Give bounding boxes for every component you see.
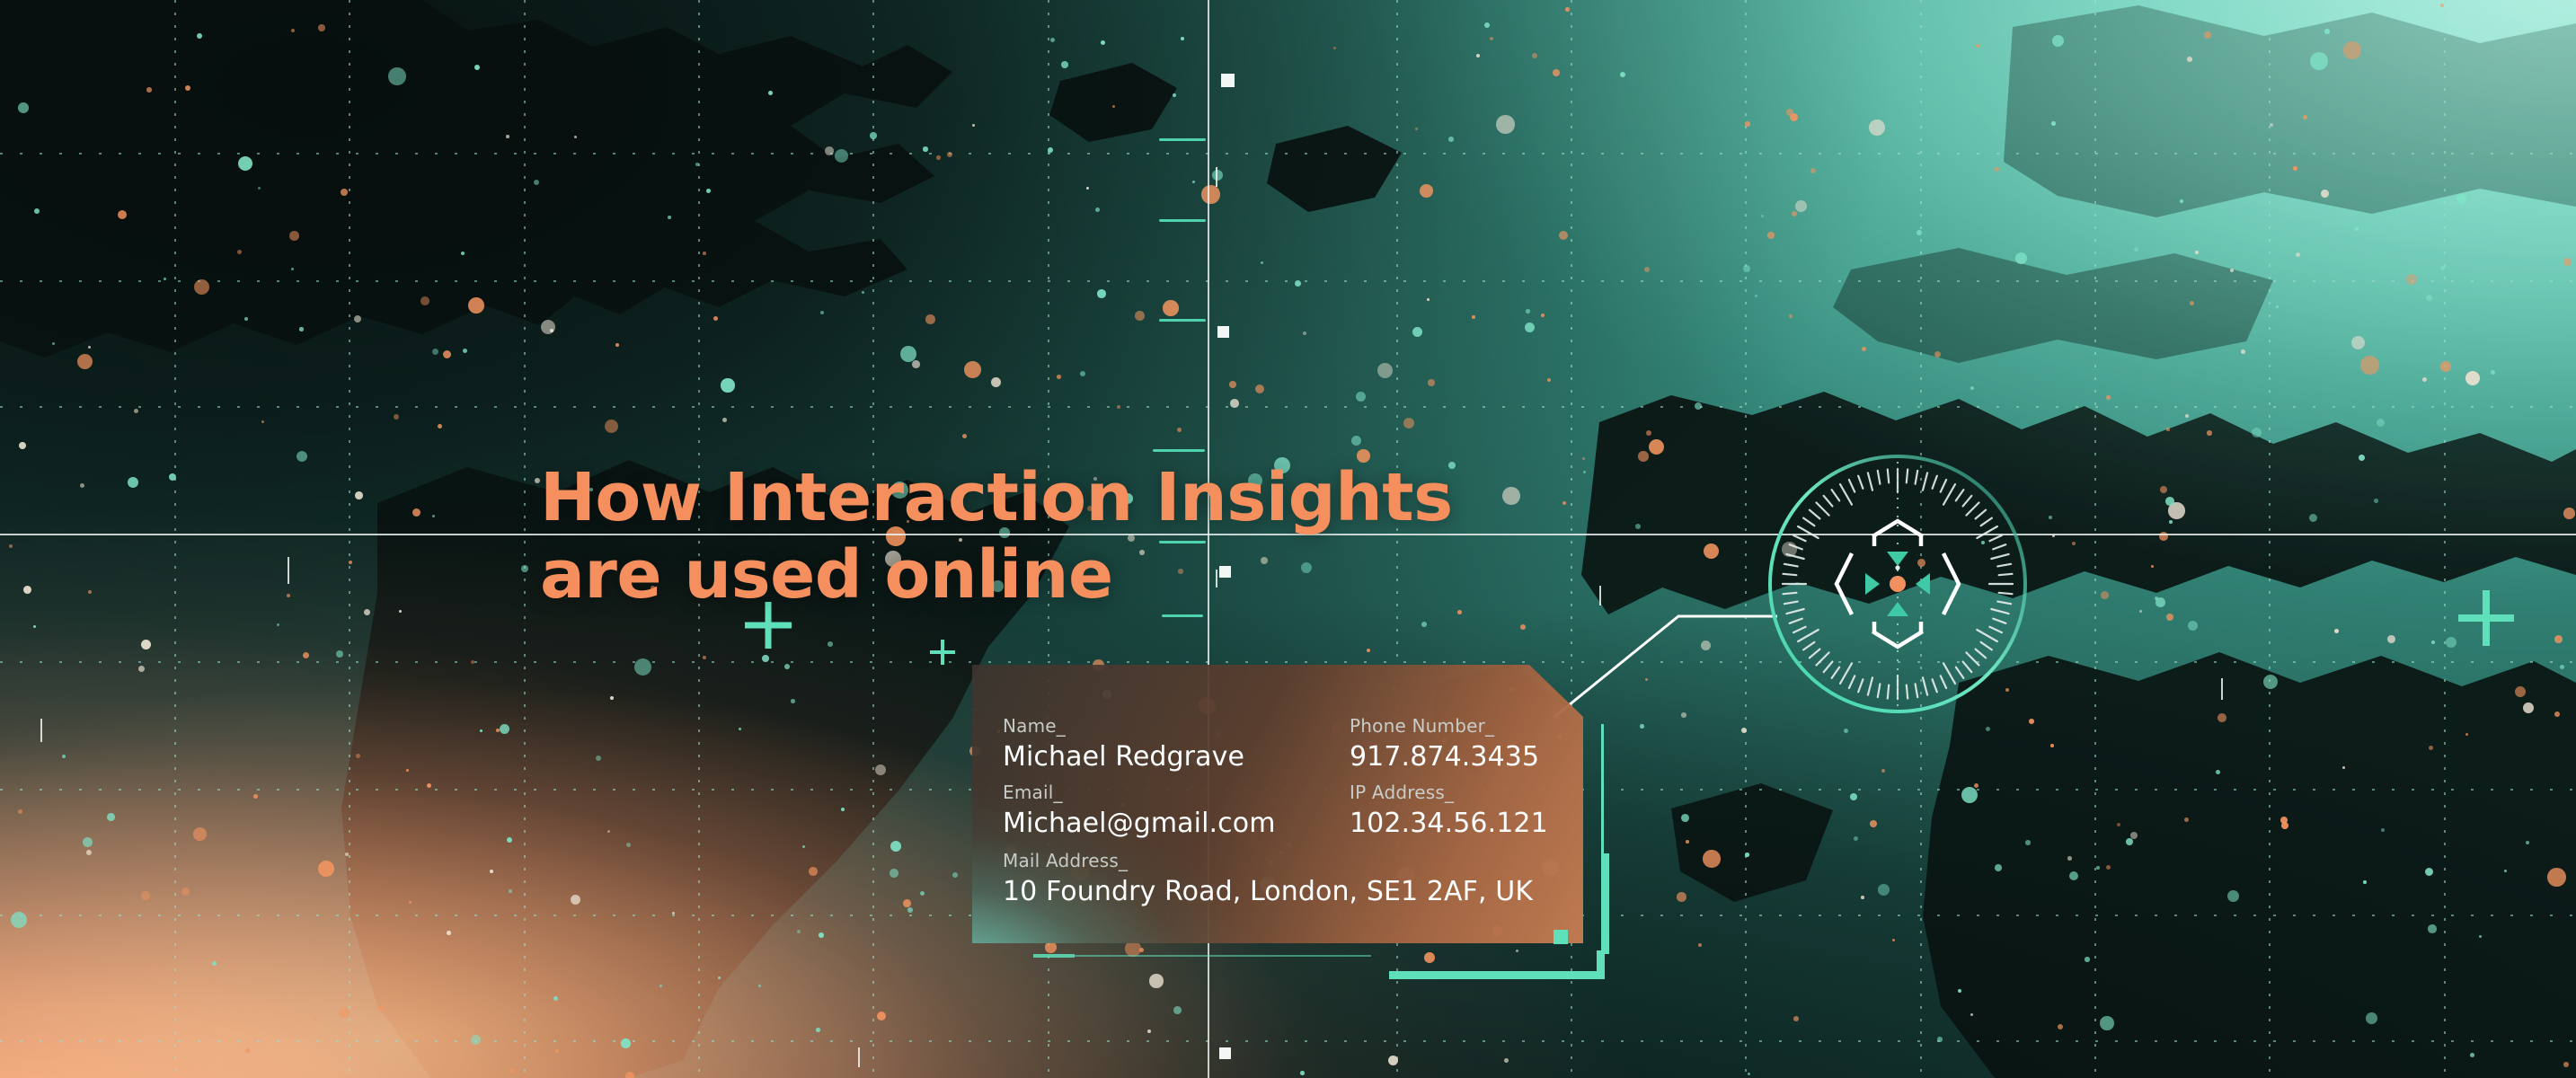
field-ip-address: IP Address_ 102.34.56.121: [1350, 782, 1548, 839]
hud-square: [1217, 326, 1229, 338]
field-phone-label: Phone Number_: [1350, 715, 1539, 737]
radar-targeting-reticle: [1763, 449, 2032, 719]
card-accent-square: [1554, 930, 1568, 944]
card-underline-accent-2: [1075, 955, 1371, 957]
hud-square: [1221, 74, 1235, 87]
field-name-label: Name_: [1003, 715, 1244, 737]
hud-tick: [288, 557, 289, 584]
hero-banner: How Interaction Insights are used online…: [0, 0, 2576, 1078]
hud-tick: [2221, 678, 2223, 700]
hud-tick: [1216, 167, 1217, 187]
field-name-value: Michael Redgrave: [1003, 741, 1244, 773]
hud-dash: [1159, 319, 1206, 322]
field-phone-value: 917.874.3435: [1350, 741, 1539, 773]
field-mail-address-value: 10 Foundry Road, London, SE1 2AF, UK: [1003, 876, 1533, 907]
hud-dash: [1153, 449, 1205, 452]
field-name: Name_ Michael Redgrave: [1003, 715, 1244, 773]
hud-dash: [1159, 138, 1206, 141]
hud-square: [1219, 1047, 1231, 1059]
field-ip-address-label: IP Address_: [1350, 782, 1548, 803]
card-corner-bracket: [1389, 950, 1605, 979]
field-mail-address: Mail Address_ 10 Foundry Road, London, S…: [1003, 850, 1533, 907]
crosshair-right-edge: [2458, 590, 2514, 646]
hud-dash: [1162, 614, 1203, 617]
field-mail-address-label: Mail Address_: [1003, 850, 1533, 871]
field-email-label: Email_: [1003, 782, 1276, 803]
hud-dash: [1159, 219, 1206, 222]
card-right-bracket: [1601, 853, 1609, 954]
card-underline-accent: [1033, 954, 1075, 958]
field-phone: Phone Number_ 917.874.3435: [1350, 715, 1539, 773]
field-ip-address-value: 102.34.56.121: [1350, 808, 1548, 839]
contact-info-card: Name_ Michael Redgrave Phone Number_ 917…: [972, 665, 1583, 943]
field-email-value: Michael@gmail.com: [1003, 808, 1276, 839]
page-title: How Interaction Insights are used online: [540, 460, 1453, 614]
crosshair-small-left: [930, 640, 955, 665]
hud-tick: [40, 719, 42, 742]
hud-tick: [858, 1047, 860, 1067]
field-email: Email_ Michael@gmail.com: [1003, 782, 1276, 839]
